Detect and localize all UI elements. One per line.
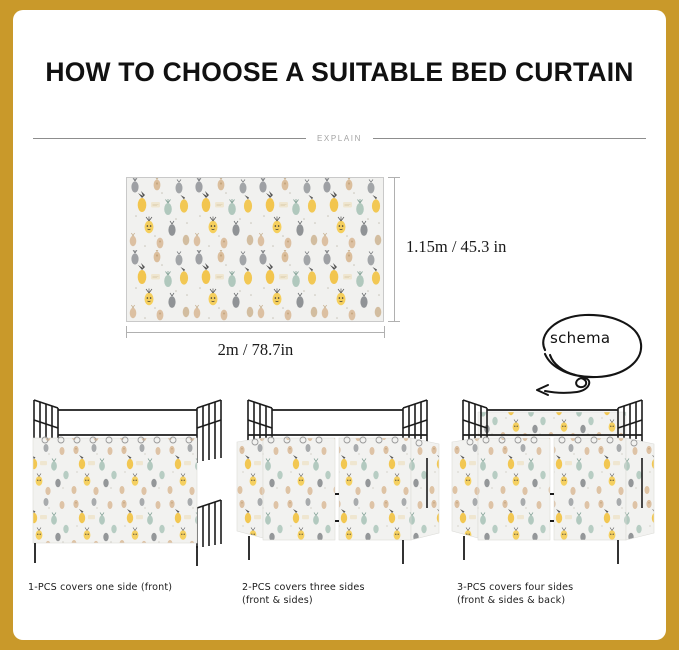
bed-frame-3-pcs-svg [450,388,662,578]
schema-circle-arrow-icon [517,298,657,398]
width-dimension-line [126,332,385,333]
diagram-1-caption: 1-PCS covers one side (front) [28,581,233,594]
height-dimension-cap-top [388,177,400,178]
diagram-1-pcs: 1-PCS covers one side (front) [21,388,233,618]
schema-label: schema [550,329,610,347]
height-dimension-line [394,177,395,322]
height-dimension-label: 1.15m / 45.3 in [406,237,506,257]
bed-frame-2-pcs-svg [235,388,447,578]
width-dimension-label: 2m / 78.7in [126,340,385,360]
explain-divider: EXPLAIN [33,131,646,145]
fabric-pattern-svg [127,178,384,322]
width-dimension-cap-right [384,326,385,338]
diagram-2-caption: 2-PCS covers three sides (front & sides) [242,581,447,607]
coverage-diagrams: 1-PCS covers one side (front) [13,388,666,618]
diagram-1-caption-line1: 1-PCS covers one side (front) [28,582,172,593]
card-surface: HOW TO CHOOSE A SUITABLE BED CURTAIN EXP… [13,10,666,640]
diagram-2-caption-line2: (front & sides) [242,594,447,607]
width-dimension-cap-left [126,326,127,338]
diagram-3-caption: 3-PCS covers four sides (front & sides &… [457,581,662,607]
bed-frame-1-pcs-svg [21,388,233,578]
page-title: HOW TO CHOOSE A SUITABLE BED CURTAIN [13,57,666,88]
infographic-page: HOW TO CHOOSE A SUITABLE BED CURTAIN EXP… [0,0,679,650]
fabric-swatch [126,177,384,322]
divider-rule-right [373,138,646,139]
divider-label: EXPLAIN [317,134,362,143]
divider-rule-left [33,138,306,139]
schema-callout: schema [517,298,657,398]
diagram-2-caption-line1: 2-PCS covers three sides [242,582,365,593]
diagram-3-pcs: 3-PCS covers four sides (front & sides &… [450,388,662,618]
diagram-3-caption-line1: 3-PCS covers four sides [457,582,573,593]
diagram-3-caption-line2: (front & sides & back) [457,594,662,607]
height-dimension-cap-bottom [388,321,400,322]
diagram-2-pcs: 2-PCS covers three sides (front & sides) [235,388,447,618]
